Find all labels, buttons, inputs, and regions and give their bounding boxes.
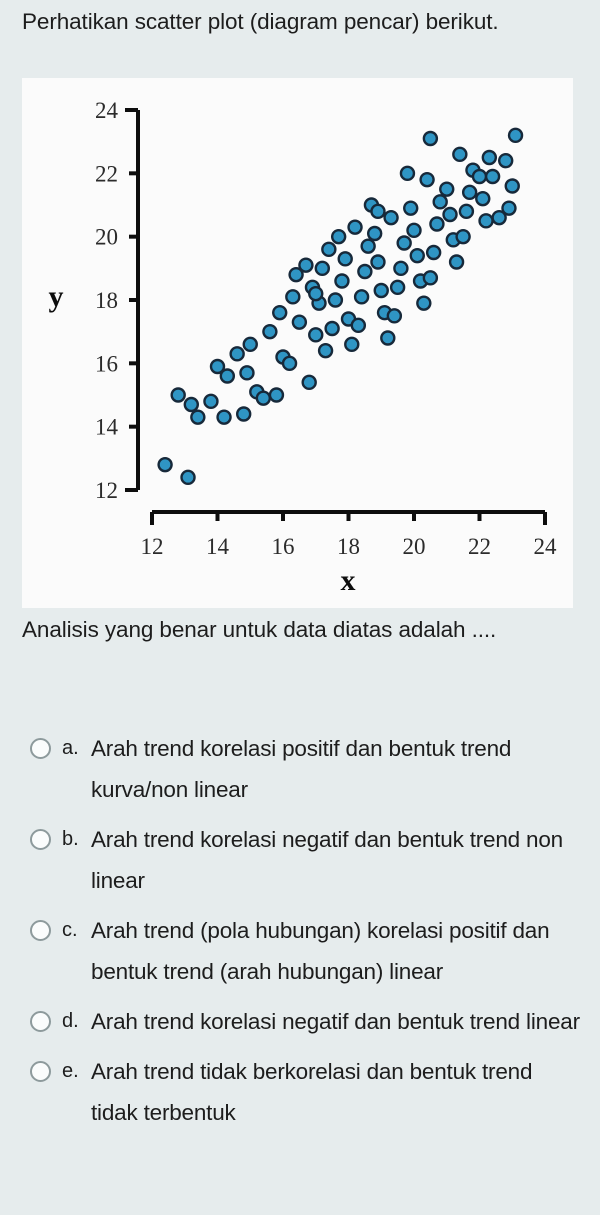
- option-letter-e: e.: [51, 1051, 85, 1092]
- option-b[interactable]: b. Arah trend korelasi negatif dan bentu…: [30, 819, 582, 901]
- option-letter-c: c.: [51, 910, 85, 951]
- svg-text:14: 14: [206, 534, 230, 559]
- option-a[interactable]: a. Arah trend korelasi positif dan bentu…: [30, 728, 582, 810]
- svg-text:14: 14: [95, 415, 119, 440]
- scatter-points: [159, 129, 522, 484]
- x-axis: 12141618202224: [141, 512, 558, 559]
- scatter-plot-svg: y x 12141618202224 12141618202224: [22, 78, 573, 608]
- radio-button-a[interactable]: [30, 738, 51, 759]
- svg-text:16: 16: [95, 351, 118, 376]
- radio-button-c[interactable]: [30, 920, 51, 941]
- option-text-e: Arah trend tidak berkorelasi dan bentuk …: [85, 1051, 582, 1133]
- y-axis-label: y: [49, 280, 64, 313]
- y-axis: 12141618202224: [95, 98, 138, 503]
- question-prompt: Analisis yang benar untuk data diatas ad…: [0, 612, 600, 648]
- option-text-a: Arah trend korelasi positif dan bentuk t…: [85, 728, 582, 810]
- option-d[interactable]: d. Arah trend korelasi negatif dan bentu…: [30, 1001, 582, 1042]
- svg-text:18: 18: [337, 534, 360, 559]
- svg-text:22: 22: [468, 534, 491, 559]
- option-c[interactable]: c. Arah trend (pola hubungan) korelasi p…: [30, 910, 582, 992]
- radio-button-d[interactable]: [30, 1011, 51, 1032]
- question-stem: Perhatikan scatter plot (diagram pencar)…: [0, 0, 600, 40]
- option-text-d: Arah trend korelasi negatif dan bentuk t…: [85, 1001, 582, 1042]
- svg-text:24: 24: [95, 98, 119, 123]
- option-text-b: Arah trend korelasi negatif dan bentuk t…: [85, 819, 582, 901]
- svg-text:24: 24: [534, 534, 558, 559]
- svg-text:20: 20: [403, 534, 426, 559]
- svg-text:12: 12: [141, 534, 164, 559]
- answer-options-list: a. Arah trend korelasi positif dan bentu…: [0, 728, 600, 1142]
- svg-text:16: 16: [272, 534, 295, 559]
- scatter-plot-card: y x 12141618202224 12141618202224: [22, 78, 573, 608]
- radio-button-b[interactable]: [30, 829, 51, 850]
- option-letter-d: d.: [51, 1001, 85, 1042]
- option-letter-b: b.: [51, 819, 85, 860]
- option-e[interactable]: e. Arah trend tidak berkorelasi dan bent…: [30, 1051, 582, 1133]
- x-axis-label: x: [341, 564, 356, 597]
- svg-text:12: 12: [95, 478, 118, 503]
- option-letter-a: a.: [51, 728, 85, 769]
- radio-button-e[interactable]: [30, 1061, 51, 1082]
- option-text-c: Arah trend (pola hubungan) korelasi posi…: [85, 910, 582, 992]
- svg-text:22: 22: [95, 161, 118, 186]
- svg-text:20: 20: [95, 225, 118, 250]
- svg-text:18: 18: [95, 288, 118, 313]
